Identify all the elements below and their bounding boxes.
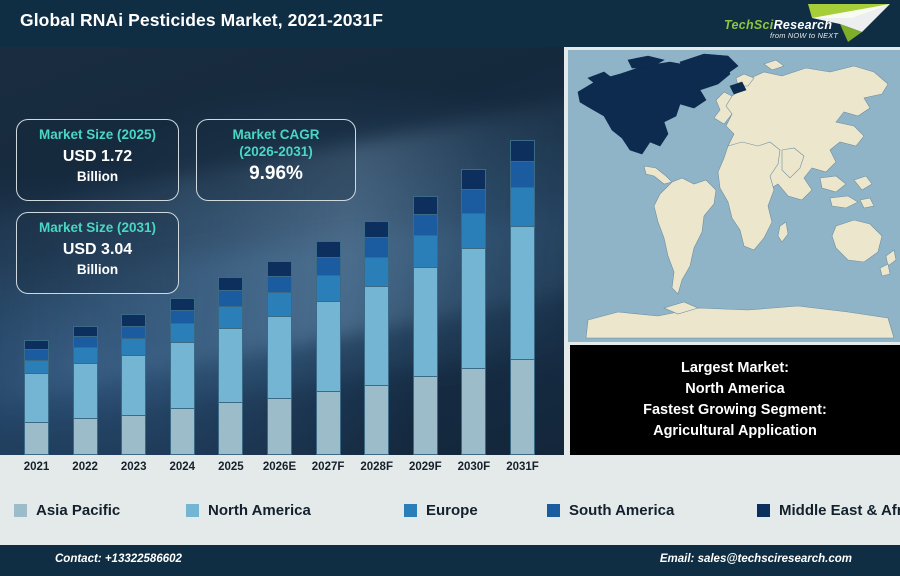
- bar-segment-north-america: [218, 328, 243, 403]
- legend-swatch-icon: [186, 504, 199, 517]
- legend-swatch-icon: [14, 504, 27, 517]
- bar-2026E: [267, 261, 292, 455]
- stat-card-subtitle: (2026-2031): [197, 144, 355, 161]
- bar-segment-south-america: [267, 276, 292, 293]
- bar-segment-asia-pacific: [316, 391, 341, 455]
- logo-text: TechSciResearch: [724, 18, 832, 32]
- legend-label: Europe: [426, 502, 478, 519]
- techsci-logo: TechSciResearch from NOW to NEXT: [712, 2, 892, 44]
- chart-panel: Market Size (2025) USD 1.72 Billion Mark…: [0, 47, 564, 455]
- bar-segment-north-america: [510, 226, 535, 359]
- legend-item-south-america[interactable]: South America: [547, 502, 674, 519]
- x-axis-label-2026E: 2026E: [252, 461, 308, 473]
- legend-swatch-icon: [757, 504, 770, 517]
- bar-segment-north-america: [170, 342, 195, 408]
- bar-2021: [24, 340, 49, 455]
- bar-segment-asia-pacific: [121, 415, 146, 455]
- bar-2030F: [461, 169, 486, 455]
- bar-segment-europe: [267, 292, 292, 316]
- bar-segment-middle-east-africa: [510, 140, 535, 161]
- x-axis-label-2021: 2021: [9, 461, 65, 473]
- header-bar: Global RNAi Pesticides Market, 2021-2031…: [0, 0, 900, 47]
- bar-segment-middle-east-africa: [316, 241, 341, 258]
- footer-email: Email: sales@techsciresearch.com: [660, 553, 852, 565]
- x-axis-label-2031F: 2031F: [495, 461, 551, 473]
- bar-segment-south-america: [170, 310, 195, 323]
- x-axis-label-2027F: 2027F: [300, 461, 356, 473]
- bar-segment-south-america: [24, 349, 49, 359]
- bar-segment-south-america: [316, 257, 341, 275]
- world-map: [568, 50, 900, 342]
- bar-segment-south-america: [510, 161, 535, 187]
- bar-segment-middle-east-africa: [121, 314, 146, 325]
- bar-segment-europe: [24, 360, 49, 373]
- bar-segment-middle-east-africa: [73, 326, 98, 336]
- bar-segment-middle-east-africa: [170, 298, 195, 310]
- bar-segment-asia-pacific: [267, 398, 292, 455]
- x-axis-label-2023: 2023: [106, 461, 162, 473]
- callout-line-3: Fastest Growing Segment:: [643, 400, 827, 421]
- stat-card-unit: Billion: [17, 262, 178, 277]
- legend-item-middle-east-africa[interactable]: Middle East & Africa: [757, 502, 900, 519]
- bar-segment-middle-east-africa: [267, 261, 292, 276]
- footer-contact: Contact: +13322586602: [55, 553, 182, 565]
- bar-segment-north-america: [73, 363, 98, 418]
- logo-tagline: from NOW to NEXT: [770, 31, 838, 40]
- bar-segment-middle-east-africa: [364, 221, 389, 238]
- bar-segment-asia-pacific: [461, 368, 486, 455]
- bar-segment-asia-pacific: [24, 422, 49, 455]
- callout-line-2: North America: [685, 379, 784, 400]
- legend-label: South America: [569, 502, 674, 519]
- bar-segment-middle-east-africa: [413, 196, 438, 214]
- bar-segment-north-america: [364, 286, 389, 384]
- stat-card-value: 9.96%: [197, 163, 355, 185]
- x-axis-label-2029F: 2029F: [397, 461, 453, 473]
- bar-segment-middle-east-africa: [218, 277, 243, 290]
- bar-segment-south-america: [218, 290, 243, 306]
- stat-card-unit: Billion: [17, 169, 178, 184]
- bar-segment-asia-pacific: [364, 385, 389, 455]
- bar-segment-asia-pacific: [218, 402, 243, 455]
- callout-line-4: Agricultural Application: [653, 421, 817, 442]
- bar-segment-south-america: [413, 214, 438, 236]
- legend-item-asia-pacific[interactable]: Asia Pacific: [14, 502, 120, 519]
- bar-2024: [170, 298, 195, 455]
- bar-2029F: [413, 196, 438, 455]
- bar-2023: [121, 314, 146, 455]
- legend-label: North America: [208, 502, 311, 519]
- bar-segment-europe: [461, 213, 486, 248]
- bar-segment-south-america: [364, 237, 389, 257]
- bar-segment-europe: [170, 323, 195, 342]
- bar-segment-europe: [413, 235, 438, 267]
- legend-item-europe[interactable]: Europe: [404, 502, 478, 519]
- bar-segment-europe: [364, 257, 389, 286]
- bar-segment-europe: [316, 275, 341, 301]
- stat-card-title: Market Size (2031): [17, 220, 178, 237]
- stat-card-title: Market CAGR: [197, 127, 355, 144]
- bar-segment-south-america: [461, 189, 486, 213]
- bar-2022: [73, 326, 98, 455]
- bar-segment-north-america: [413, 267, 438, 376]
- footer-bar: Contact: +13322586602 Email: sales@techs…: [0, 545, 900, 576]
- bar-segment-middle-east-africa: [461, 169, 486, 189]
- stat-card-value: USD 1.72: [17, 148, 178, 166]
- market-callout-box: Largest Market: North America Fastest Gr…: [570, 345, 900, 455]
- chart-legend: Asia PacificNorth AmericaEuropeSouth Ame…: [0, 490, 900, 545]
- bar-2031F: [510, 140, 535, 455]
- logo-name-part1: TechSci: [724, 18, 774, 32]
- logo-name-part2: Research: [774, 18, 833, 32]
- legend-swatch-icon: [404, 504, 417, 517]
- bar-segment-asia-pacific: [73, 418, 98, 455]
- legend-label: Asia Pacific: [36, 502, 120, 519]
- bar-segment-europe: [510, 187, 535, 226]
- x-axis-label-2028F: 2028F: [349, 461, 405, 473]
- bar-2028F: [364, 221, 389, 455]
- infographic-root: Global RNAi Pesticides Market, 2021-2031…: [0, 0, 900, 576]
- callout-line-1: Largest Market:: [681, 358, 789, 379]
- stat-card-market-size-2031: Market Size (2031) USD 3.04 Billion: [16, 212, 179, 294]
- bar-segment-europe: [121, 338, 146, 355]
- stat-card-market-size-2025: Market Size (2025) USD 1.72 Billion: [16, 119, 179, 201]
- bar-segment-asia-pacific: [170, 408, 195, 455]
- bar-segment-north-america: [24, 373, 49, 422]
- x-axis: 202120222023202420252026E2027F2028F2029F…: [0, 455, 564, 490]
- bar-segment-europe: [218, 306, 243, 328]
- legend-label: Middle East & Africa: [779, 502, 900, 519]
- legend-swatch-icon: [547, 504, 560, 517]
- bar-segment-north-america: [316, 301, 341, 391]
- bar-2027F: [316, 241, 341, 455]
- x-axis-label-2024: 2024: [154, 461, 210, 473]
- world-map-svg: [568, 50, 900, 342]
- page-title: Global RNAi Pesticides Market, 2021-2031…: [20, 10, 383, 31]
- stat-card-value: USD 3.04: [17, 241, 178, 259]
- stat-card-market-cagr: Market CAGR (2026-2031) 9.96%: [196, 119, 356, 201]
- bar-2025: [218, 277, 243, 455]
- bar-segment-south-america: [73, 336, 98, 347]
- bar-segment-middle-east-africa: [24, 340, 49, 349]
- x-axis-label-2025: 2025: [203, 461, 259, 473]
- x-axis-label-2030F: 2030F: [446, 461, 502, 473]
- bar-segment-north-america: [267, 316, 292, 398]
- x-axis-label-2022: 2022: [57, 461, 113, 473]
- bar-segment-asia-pacific: [510, 359, 535, 455]
- bar-segment-north-america: [461, 248, 486, 368]
- stat-card-title: Market Size (2025): [17, 127, 178, 144]
- bar-segment-south-america: [121, 326, 146, 338]
- legend-item-north-america[interactable]: North America: [186, 502, 311, 519]
- bar-segment-north-america: [121, 355, 146, 415]
- bar-segment-asia-pacific: [413, 376, 438, 455]
- bar-segment-europe: [73, 347, 98, 363]
